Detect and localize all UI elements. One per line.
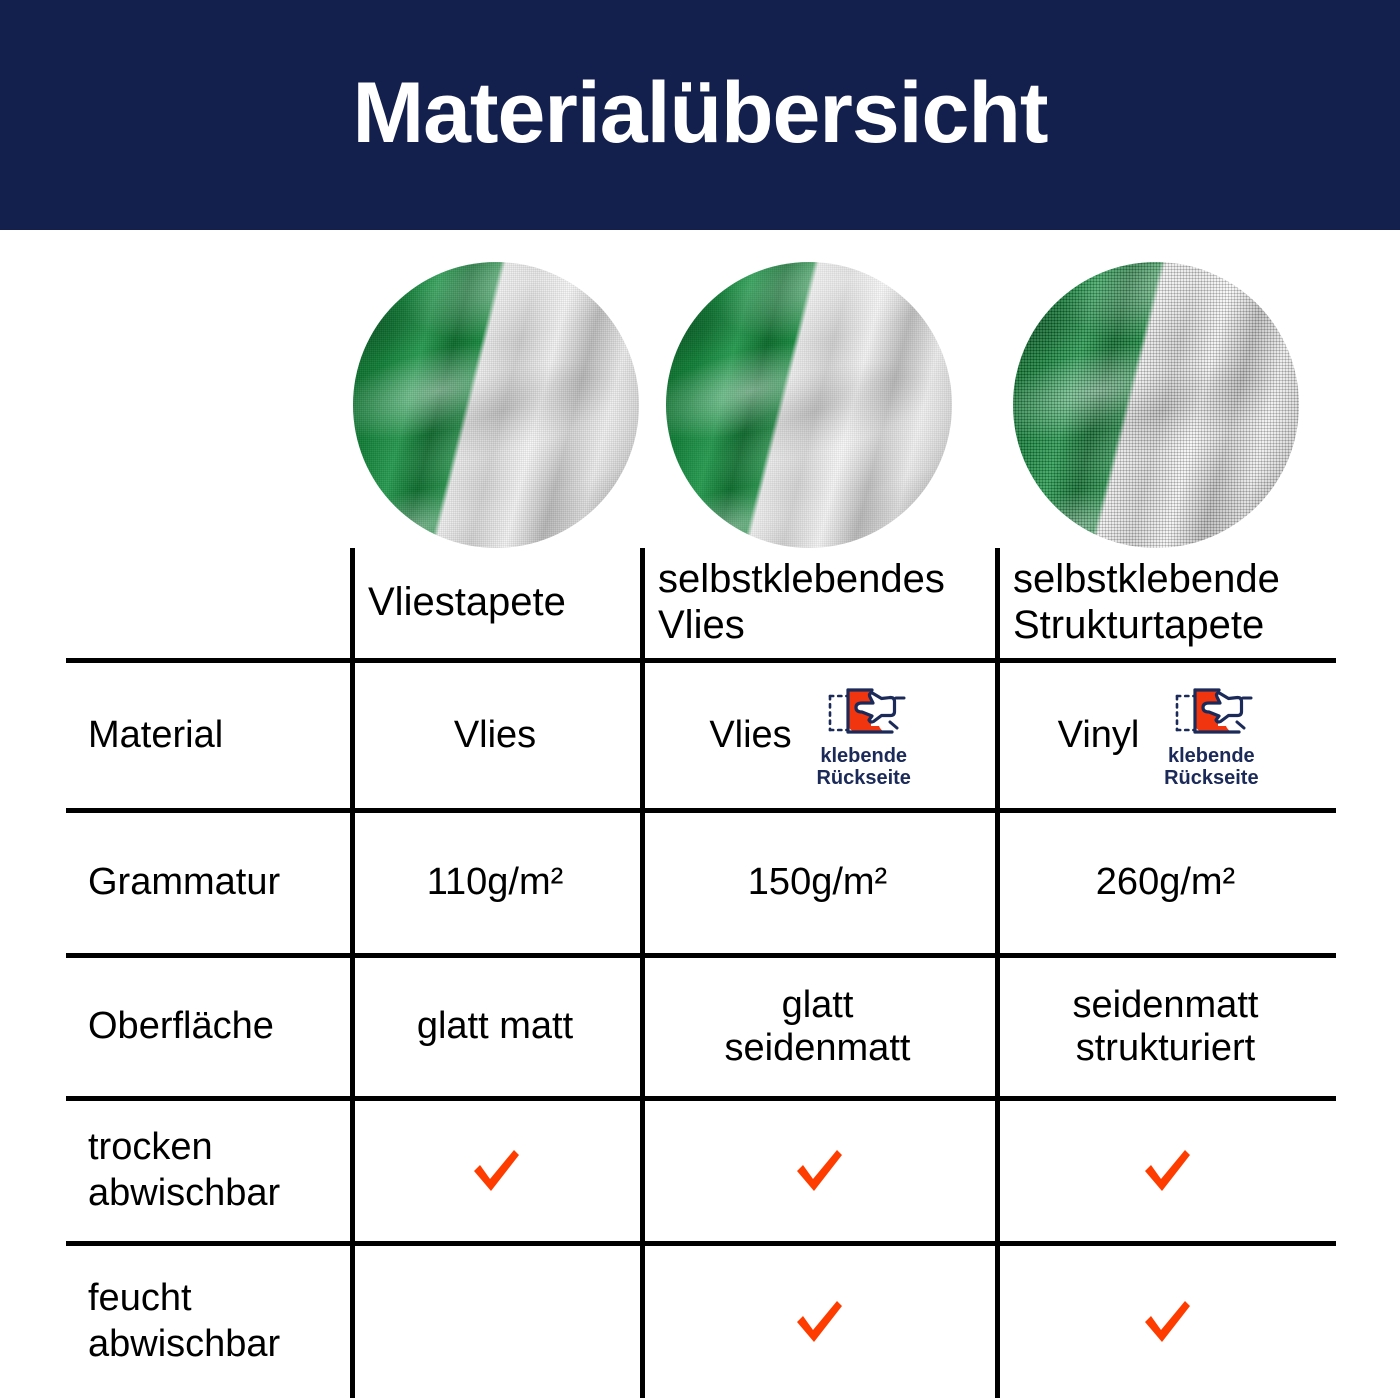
check-icon bbox=[464, 1140, 526, 1202]
header-banner: Materialübersicht bbox=[0, 0, 1400, 230]
adhesive-back-badge: klebendeRückseite bbox=[802, 682, 926, 790]
row-label-trocken-abwischbar: trocken abwischbar bbox=[66, 1101, 350, 1241]
cell-value: Vinyl bbox=[1058, 714, 1140, 757]
cell-value: glatt seidenmatt bbox=[725, 984, 911, 1071]
page-title: Materialübersicht bbox=[352, 70, 1047, 156]
column-header-label: selbstklebende Strukturtapete bbox=[1013, 557, 1280, 648]
table-row: Material Vlies Vlies bbox=[66, 663, 1336, 808]
peel-adhesive-back-icon bbox=[1165, 682, 1257, 744]
table-row: trocken abwischbar bbox=[66, 1101, 1336, 1241]
cell-material-selbstklebende-strukturtapete: Vinyl bbox=[995, 663, 1336, 808]
cell-value: Vlies bbox=[709, 714, 791, 757]
cell-value: Vlies bbox=[454, 714, 536, 757]
cell-oberflaeche-selbstklebende-strukturtapete: seidenmatt strukturiert bbox=[995, 958, 1336, 1096]
cell-grammatur-selbstklebendes-vlies: 150g/m² bbox=[640, 813, 995, 953]
cell-grammatur-selbstklebende-strukturtapete: 260g/m² bbox=[995, 813, 1336, 953]
cell-grammatur-vliestapete: 110g/m² bbox=[350, 813, 640, 953]
fabric-texture bbox=[353, 262, 639, 548]
material-swatch-row bbox=[0, 230, 1400, 550]
table-corner-cell bbox=[66, 548, 350, 658]
peel-adhesive-back-icon bbox=[818, 682, 910, 744]
column-header-selbstklebende-strukturtapete: selbstklebende Strukturtapete bbox=[995, 548, 1336, 658]
cell-trocken-selbstklebende-strukturtapete bbox=[995, 1101, 1336, 1241]
adhesive-back-badge-label: klebendeRückseite bbox=[1164, 745, 1259, 790]
fabric-texture bbox=[666, 262, 952, 548]
material-comparison-table: Vliestapete selbstklebendes Vlies selbst… bbox=[66, 548, 1336, 1398]
fabric-texture bbox=[1013, 262, 1299, 548]
row-label-grammatur: Grammatur bbox=[66, 813, 350, 953]
cell-material-vliestapete: Vlies bbox=[350, 663, 640, 808]
cell-value: seidenmatt strukturiert bbox=[1073, 984, 1259, 1071]
table-row: Grammatur 110g/m² 150g/m² 260g/m² bbox=[66, 813, 1336, 953]
check-icon bbox=[1135, 1291, 1197, 1353]
table-row: feucht abwischbar bbox=[66, 1246, 1336, 1398]
column-header-vliestapete: Vliestapete bbox=[350, 548, 640, 658]
table-header-row: Vliestapete selbstklebendes Vlies selbst… bbox=[66, 548, 1336, 658]
cell-feucht-vliestapete bbox=[350, 1246, 640, 1398]
cell-oberflaeche-selbstklebendes-vlies: glatt seidenmatt bbox=[640, 958, 995, 1096]
selbstklebendes-vlies-swatch bbox=[666, 262, 952, 548]
adhesive-back-badge-label: klebendeRückseite bbox=[816, 745, 911, 790]
selbstklebende-strukturtapete-swatch bbox=[1013, 262, 1299, 548]
column-header-label: Vliestapete bbox=[368, 580, 566, 626]
cell-feucht-selbstklebendes-vlies bbox=[640, 1246, 995, 1398]
check-icon bbox=[787, 1140, 849, 1202]
cell-material-selbstklebendes-vlies: Vlies bbox=[640, 663, 995, 808]
row-label-material: Material bbox=[66, 663, 350, 808]
adhesive-back-badge: klebendeRückseite bbox=[1149, 682, 1273, 790]
cell-trocken-selbstklebendes-vlies bbox=[640, 1101, 995, 1241]
cell-feucht-selbstklebende-strukturtapete bbox=[995, 1246, 1336, 1398]
cell-value: glatt matt bbox=[417, 1005, 573, 1048]
cell-oberflaeche-vliestapete: glatt matt bbox=[350, 958, 640, 1096]
check-icon bbox=[787, 1291, 849, 1353]
column-header-selbstklebendes-vlies: selbstklebendes Vlies bbox=[640, 548, 995, 658]
table-row: Oberfläche glatt matt glatt seidenmatt s… bbox=[66, 958, 1336, 1096]
cell-trocken-vliestapete bbox=[350, 1101, 640, 1241]
vliestapete-swatch bbox=[353, 262, 639, 548]
row-label-oberflaeche: Oberfläche bbox=[66, 958, 350, 1096]
check-icon bbox=[1135, 1140, 1197, 1202]
row-label-feucht-abwischbar: feucht abwischbar bbox=[66, 1246, 350, 1398]
column-header-label: selbstklebendes Vlies bbox=[658, 557, 945, 648]
no-check-placeholder bbox=[464, 1291, 526, 1353]
